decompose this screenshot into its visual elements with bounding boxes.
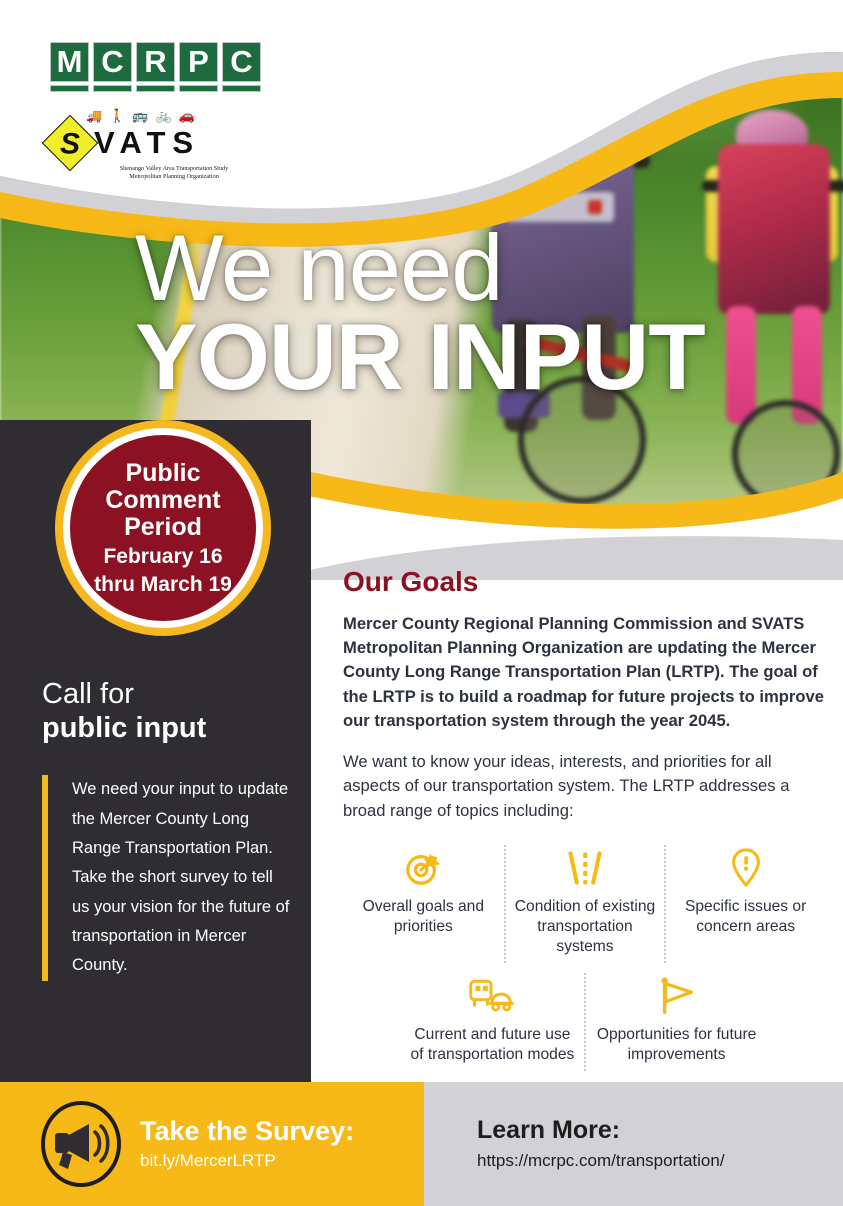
svats-logo: 🚚 🚶 🚌 🚲 🚗 S VATS Shenango Valley Area Tr…	[50, 106, 265, 181]
learn-more-url-link[interactable]: https://mcrpc.com/transportation/	[477, 1151, 725, 1171]
section-title-our-goals: Our Goals	[343, 566, 825, 598]
mcrpc-underbar	[222, 85, 261, 92]
pedestrian-icon: 🚶	[109, 109, 125, 122]
svats-subtitle: Shenango Valley Area Transportation Stud…	[84, 165, 264, 181]
flag-icon	[657, 973, 697, 1019]
mcrpc-letter: C	[93, 42, 132, 82]
main-content: Our Goals Mercer County Regional Plannin…	[343, 566, 825, 1071]
flyer-page: M C R P C 🚚 🚶 🚌	[0, 0, 843, 1206]
survey-url-link[interactable]: bit.ly/MercerLRTP	[140, 1151, 354, 1171]
footer-learn-more-panel[interactable]: Learn More: https://mcrpc.com/transporta…	[424, 1082, 843, 1206]
topics-row-2: Current and future use of transportation…	[343, 973, 825, 1071]
footer-survey-panel[interactable]: Take the Survey: bit.ly/MercerLRTP	[0, 1082, 424, 1206]
topic-item: Opportunities for future improvements	[584, 973, 767, 1071]
badge-line-4: February 16	[103, 545, 222, 569]
svats-mode-icon-row: 🚚 🚶 🚌 🚲 🚗	[86, 106, 265, 122]
badge-line-5: thru March 19	[94, 573, 232, 597]
mcrpc-letter-cell: C	[222, 42, 261, 92]
hero-headline: We need YOUR INPUT	[135, 222, 795, 404]
mcrpc-letter: C	[222, 42, 261, 82]
public-comment-period-badge: Public Comment Period February 16 thru M…	[63, 428, 263, 628]
svats-letters: VATS	[94, 125, 200, 161]
mcrpc-letter-cell: C	[93, 42, 132, 92]
topic-label: Current and future use of transportation…	[407, 1025, 578, 1065]
mcrpc-letter-cell: M	[50, 42, 89, 92]
call-body-text: We need your input to update the Mercer …	[42, 775, 290, 981]
mcrpc-underbar	[136, 85, 175, 92]
learn-more-title: Learn More:	[477, 1117, 725, 1145]
topic-label: Opportunities for future improvements	[592, 1025, 761, 1065]
goals-paragraph-regular: We want to know your ideas, interests, a…	[343, 750, 825, 823]
topic-label: Overall goals and priorities	[349, 897, 498, 937]
road-lanes-icon	[565, 845, 605, 891]
svats-diamond-badge: S	[42, 115, 99, 172]
call-title-line-2: public input	[42, 712, 290, 746]
mcrpc-letter: R	[136, 42, 175, 82]
logo-group: M C R P C 🚚 🚶 🚌	[50, 42, 265, 181]
topic-item: Specific issues or concern areas	[664, 845, 825, 963]
topics-grid: Overall goals and priorities Cond	[343, 845, 825, 1071]
footer-bar: Take the Survey: bit.ly/MercerLRTP Learn…	[0, 1082, 843, 1206]
call-for-input-block: Call for public input We need your input…	[42, 678, 290, 981]
car-icon: 🚗	[179, 109, 195, 122]
badge-line-3: Period	[124, 514, 202, 541]
headline-line-1: We need	[135, 222, 795, 314]
call-title-line-1: Call for	[42, 678, 290, 712]
mcrpc-underbar	[50, 85, 89, 92]
svats-subtitle-line1: Shenango Valley Area Transportation Stud…	[84, 165, 264, 173]
svats-wordmark: S VATS	[50, 123, 265, 163]
map-pin-alert-icon	[731, 845, 761, 891]
goals-paragraph-bold: Mercer County Regional Planning Commissi…	[343, 612, 825, 733]
mcrpc-logo: M C R P C	[50, 42, 265, 92]
target-goal-icon	[404, 845, 442, 891]
badge-line-1: Public	[125, 460, 200, 487]
take-survey-title: Take the Survey:	[140, 1117, 354, 1147]
topic-item: Overall goals and priorities	[343, 845, 504, 963]
topic-label: Condition of existing transportation sys…	[512, 897, 659, 957]
mcrpc-letter: P	[179, 42, 218, 82]
mcrpc-underbar	[93, 85, 132, 92]
svats-letter-s: S	[50, 124, 90, 164]
topics-row-1: Overall goals and priorities Cond	[343, 845, 825, 963]
mcrpc-letter-cell: P	[179, 42, 218, 92]
bus-car-icon	[468, 973, 516, 1019]
topic-item: Condition of existing transportation sys…	[504, 845, 665, 963]
bicycle-icon: 🚲	[156, 109, 172, 122]
badge-line-2: Comment	[105, 487, 220, 514]
mcrpc-letter: M	[50, 42, 89, 82]
mcrpc-letter-cell: R	[136, 42, 175, 92]
topic-item: Current and future use of transportation…	[401, 973, 584, 1071]
svats-subtitle-line2: Metropolitan Planning Organization	[84, 173, 264, 181]
megaphone-icon	[37, 1100, 125, 1188]
bus-icon: 🚌	[132, 109, 148, 122]
mcrpc-underbar	[179, 85, 218, 92]
truck-icon: 🚚	[86, 109, 102, 122]
footer-learn-more-text: Learn More: https://mcrpc.com/transporta…	[477, 1117, 725, 1171]
headline-line-2: YOUR INPUT	[135, 310, 795, 404]
topic-label: Specific issues or concern areas	[672, 897, 819, 937]
footer-survey-text: Take the Survey: bit.ly/MercerLRTP	[140, 1117, 354, 1171]
